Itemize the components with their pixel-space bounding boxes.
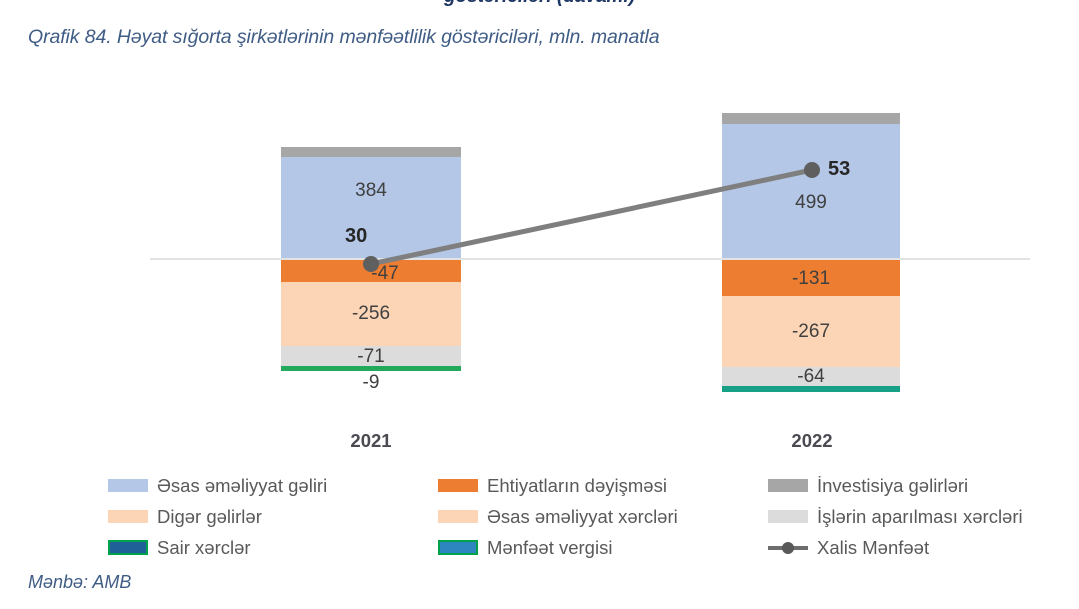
legend-line-marker-icon (768, 541, 808, 554)
net-profit-value-2021: 30 (345, 225, 367, 248)
legend-item-other-income[interactable]: Digər gəlirlər (108, 506, 438, 528)
legend-swatch-work-execution-expenses (768, 510, 808, 523)
chart-plot-area: 384 -47 -256 -71 -9 499 -131 -267 -64 (0, 70, 1079, 430)
net-profit-value-2022: 53 (828, 158, 850, 181)
clipped-header-label: göstəriciləri (davamı) (0, 0, 1079, 8)
legend-label-main-operating-income: Əsas əməliyyat gəliri (157, 475, 327, 497)
net-profit-marker-2022[interactable] (804, 162, 820, 178)
chart-legend: Əsas əməliyyat gəliriEhtiyatların dəyişm… (108, 470, 1068, 562)
clipped-header-text: göstəriciləri (davamı) (0, 0, 1079, 8)
legend-item-investment-income[interactable]: İnvestisiya gəlirləri (768, 475, 1068, 497)
legend-label-investment-income: İnvestisiya gəlirləri (817, 475, 968, 497)
legend-swatch-change-in-reserves (438, 479, 478, 492)
legend-label-profit-tax: Mənfəət vergisi (487, 537, 612, 559)
net-profit-marker-2021[interactable] (363, 256, 379, 272)
legend-swatch-main-operating-expenses (438, 510, 478, 523)
legend-label-net-profit: Xalis Mənfəət (817, 537, 929, 559)
legend-label-other-expenses: Sair xərclər (157, 537, 251, 559)
legend-swatch-other-income (108, 510, 148, 523)
chart-title: Qrafik 84. Həyat sığorta şirkətlərinin m… (28, 26, 660, 49)
legend-label-change-in-reserves: Ehtiyatların dəyişməsi (487, 475, 667, 497)
legend-item-change-in-reserves[interactable]: Ehtiyatların dəyişməsi (438, 475, 768, 497)
legend-item-main-operating-expenses[interactable]: Əsas əməliyyat xərcləri (438, 506, 768, 528)
legend-item-main-operating-income[interactable]: Əsas əməliyyat gəliri (108, 475, 438, 497)
legend-item-net-profit[interactable]: Xalis Mənfəət (768, 537, 1068, 559)
legend-label-work-execution-expenses: İşlərin aparılması xərcləri (817, 506, 1023, 528)
legend-swatch-investment-income (768, 479, 808, 492)
x-axis-label-2021: 2021 (281, 430, 461, 452)
legend-item-other-expenses[interactable]: Sair xərclər (108, 537, 438, 559)
legend-item-work-execution-expenses[interactable]: İşlərin aparılması xərcləri (768, 506, 1068, 528)
x-axis-label-2022: 2022 (722, 430, 902, 452)
net-profit-line-series[interactable] (0, 70, 1079, 430)
legend-label-other-income: Digər gəlirlər (157, 506, 262, 528)
legend-swatch-profit-tax (438, 540, 478, 555)
legend-swatch-other-expenses (108, 540, 148, 555)
source-note: Mənbə: AMB (28, 572, 131, 593)
net-profit-line-segment (371, 170, 812, 264)
legend-label-main-operating-expenses: Əsas əməliyyat xərcləri (487, 506, 678, 528)
legend-swatch-main-operating-income (108, 479, 148, 492)
legend-item-profit-tax[interactable]: Mənfəət vergisi (438, 537, 768, 559)
